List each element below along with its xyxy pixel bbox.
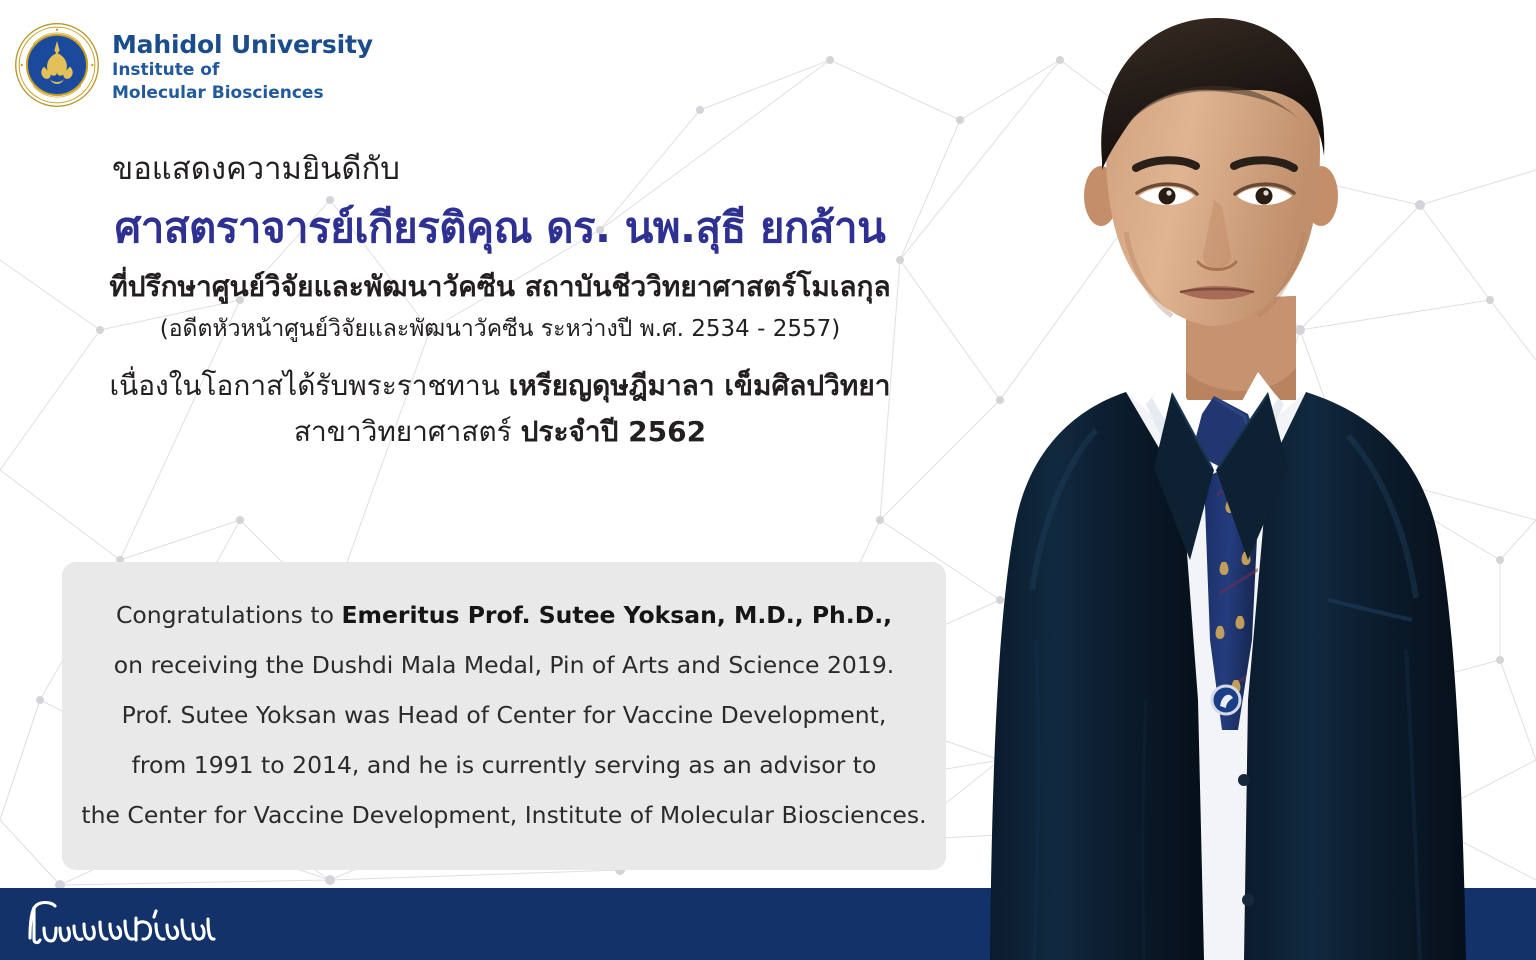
mahidol-crest-icon (14, 22, 100, 108)
award-occasion-thai: เนื่องในโอกาสได้รับพระราชทาน เหรียญดุษฎี… (60, 367, 940, 405)
award-field-thai: สาขาวิทยาศาสตร์ ประจำปี 2562 (60, 413, 940, 451)
honoree-name-thai: ศาสตราจารย์เกียรติคุณ ดร. นพ.สุธี ยกส้าน (60, 201, 940, 256)
english-line-1-prefix: Congratulations to (116, 601, 342, 629)
brand-university-name: Mahidol University (112, 32, 373, 58)
honoree-name-english: Emeritus Prof. Sutee Yoksan, M.D., Ph.D.… (341, 601, 892, 629)
english-line-5: the Center for Vaccine Development, Inst… (81, 793, 926, 839)
brand-lockup: Mahidol University Institute of Molecula… (14, 22, 373, 108)
english-line-4: from 1991 to 2014, and he is currently s… (132, 743, 877, 789)
brand-institute-line-1: Institute of (112, 60, 373, 81)
thai-greeting: ขอแสดงความยินดีกับ (112, 150, 940, 189)
award-field-prefix: สาขาวิทยาศาสตร์ (294, 415, 521, 448)
honoree-portrait (976, 0, 1536, 960)
english-line-1: Congratulations to Emeritus Prof. Sutee … (116, 593, 892, 639)
brand-text: Mahidol University Institute of Molecula… (112, 22, 373, 104)
honoree-role-thai: ที่ปรึกษาศูนย์วิจัยและพัฒนาวัคซีน สถาบัน… (60, 269, 940, 306)
honoree-former-role-thai: (อดีตหัวหน้าศูนย์วิจัยและพัฒนาวัคซีน ระห… (60, 314, 940, 344)
footer-bar (0, 888, 1536, 960)
brand-institute-line-2: Molecular Biosciences (112, 83, 373, 104)
award-year-thai: ประจำปี 2562 (521, 415, 706, 448)
thai-message-block: ขอแสดงความยินดีกับ ศาสตราจารย์เกียรติคุณ… (60, 150, 940, 451)
award-name-thai: เหรียญดุษฎีมาลา เข็มศิลปวิทยา (509, 369, 891, 402)
english-message-card: Congratulations to Emeritus Prof. Sutee … (62, 562, 946, 870)
english-line-2: on receiving the Dushdi Mala Medal, Pin … (114, 643, 895, 689)
congratulations-banner: Mahidol University Institute of Molecula… (0, 0, 1536, 960)
english-line-3: Prof. Sutee Yoksan was Head of Center fo… (122, 693, 887, 739)
award-occasion-prefix: เนื่องในโอกาสได้รับพระราชทาน (110, 369, 509, 402)
footer-tagline-thai (22, 894, 222, 952)
